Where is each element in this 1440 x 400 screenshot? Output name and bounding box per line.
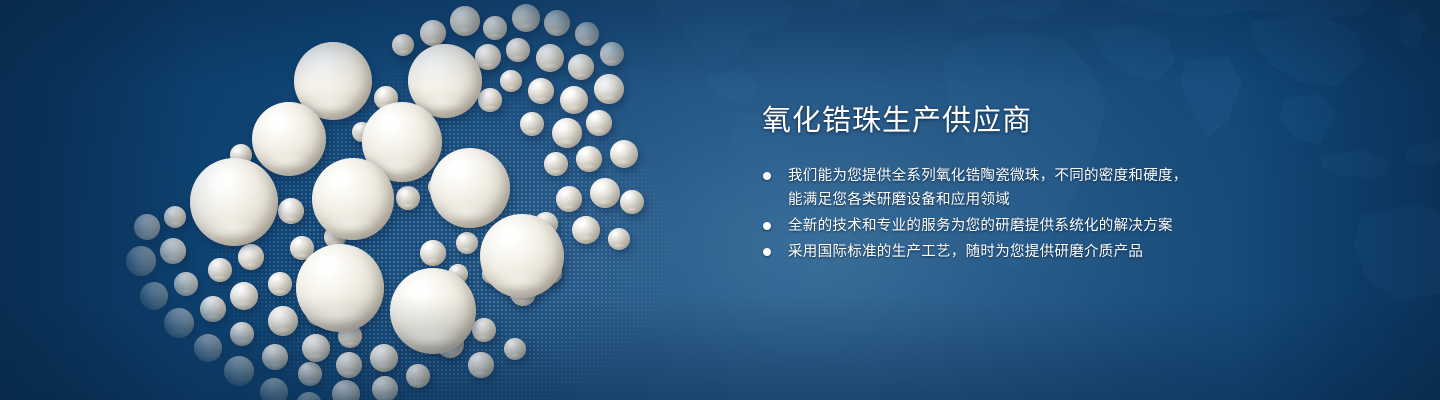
list-item-line1: 全新的技术和专业的服务为您的研磨提供系统化的解决方案: [788, 218, 1173, 234]
promo-banner: 氧化锆珠生产供应商 我们能为您提供全系列氧化锆陶瓷微珠，不同的密度和硬度， 能满…: [0, 0, 1440, 400]
bullet-dot-icon: [763, 172, 771, 180]
list-item: 采用国际标准的生产工艺，随时为您提供研磨介质产品: [762, 240, 1362, 264]
bullet-dot-icon: [763, 222, 771, 230]
list-item: 我们能为您提供全系列氧化锆陶瓷微珠，不同的密度和硬度， 能满足您各类研磨设备和应…: [762, 164, 1362, 212]
bullet-dot-icon: [763, 248, 771, 256]
list-item-line1: 我们能为您提供全系列氧化锆陶瓷微珠，不同的密度和硬度，: [788, 168, 1188, 184]
list-item: 全新的技术和专业的服务为您的研磨提供系统化的解决方案: [762, 214, 1362, 238]
banner-copy: 氧化锆珠生产供应商 我们能为您提供全系列氧化锆陶瓷微珠，不同的密度和硬度， 能满…: [762, 104, 1362, 266]
page-title: 氧化锆珠生产供应商: [762, 104, 1362, 138]
list-item-line1: 采用国际标准的生产工艺，随时为您提供研磨介质产品: [788, 244, 1143, 260]
feature-list: 我们能为您提供全系列氧化锆陶瓷微珠，不同的密度和硬度， 能满足您各类研磨设备和应…: [762, 164, 1362, 264]
list-item-line2: 能满足您各类研磨设备和应用领域: [788, 188, 1362, 212]
